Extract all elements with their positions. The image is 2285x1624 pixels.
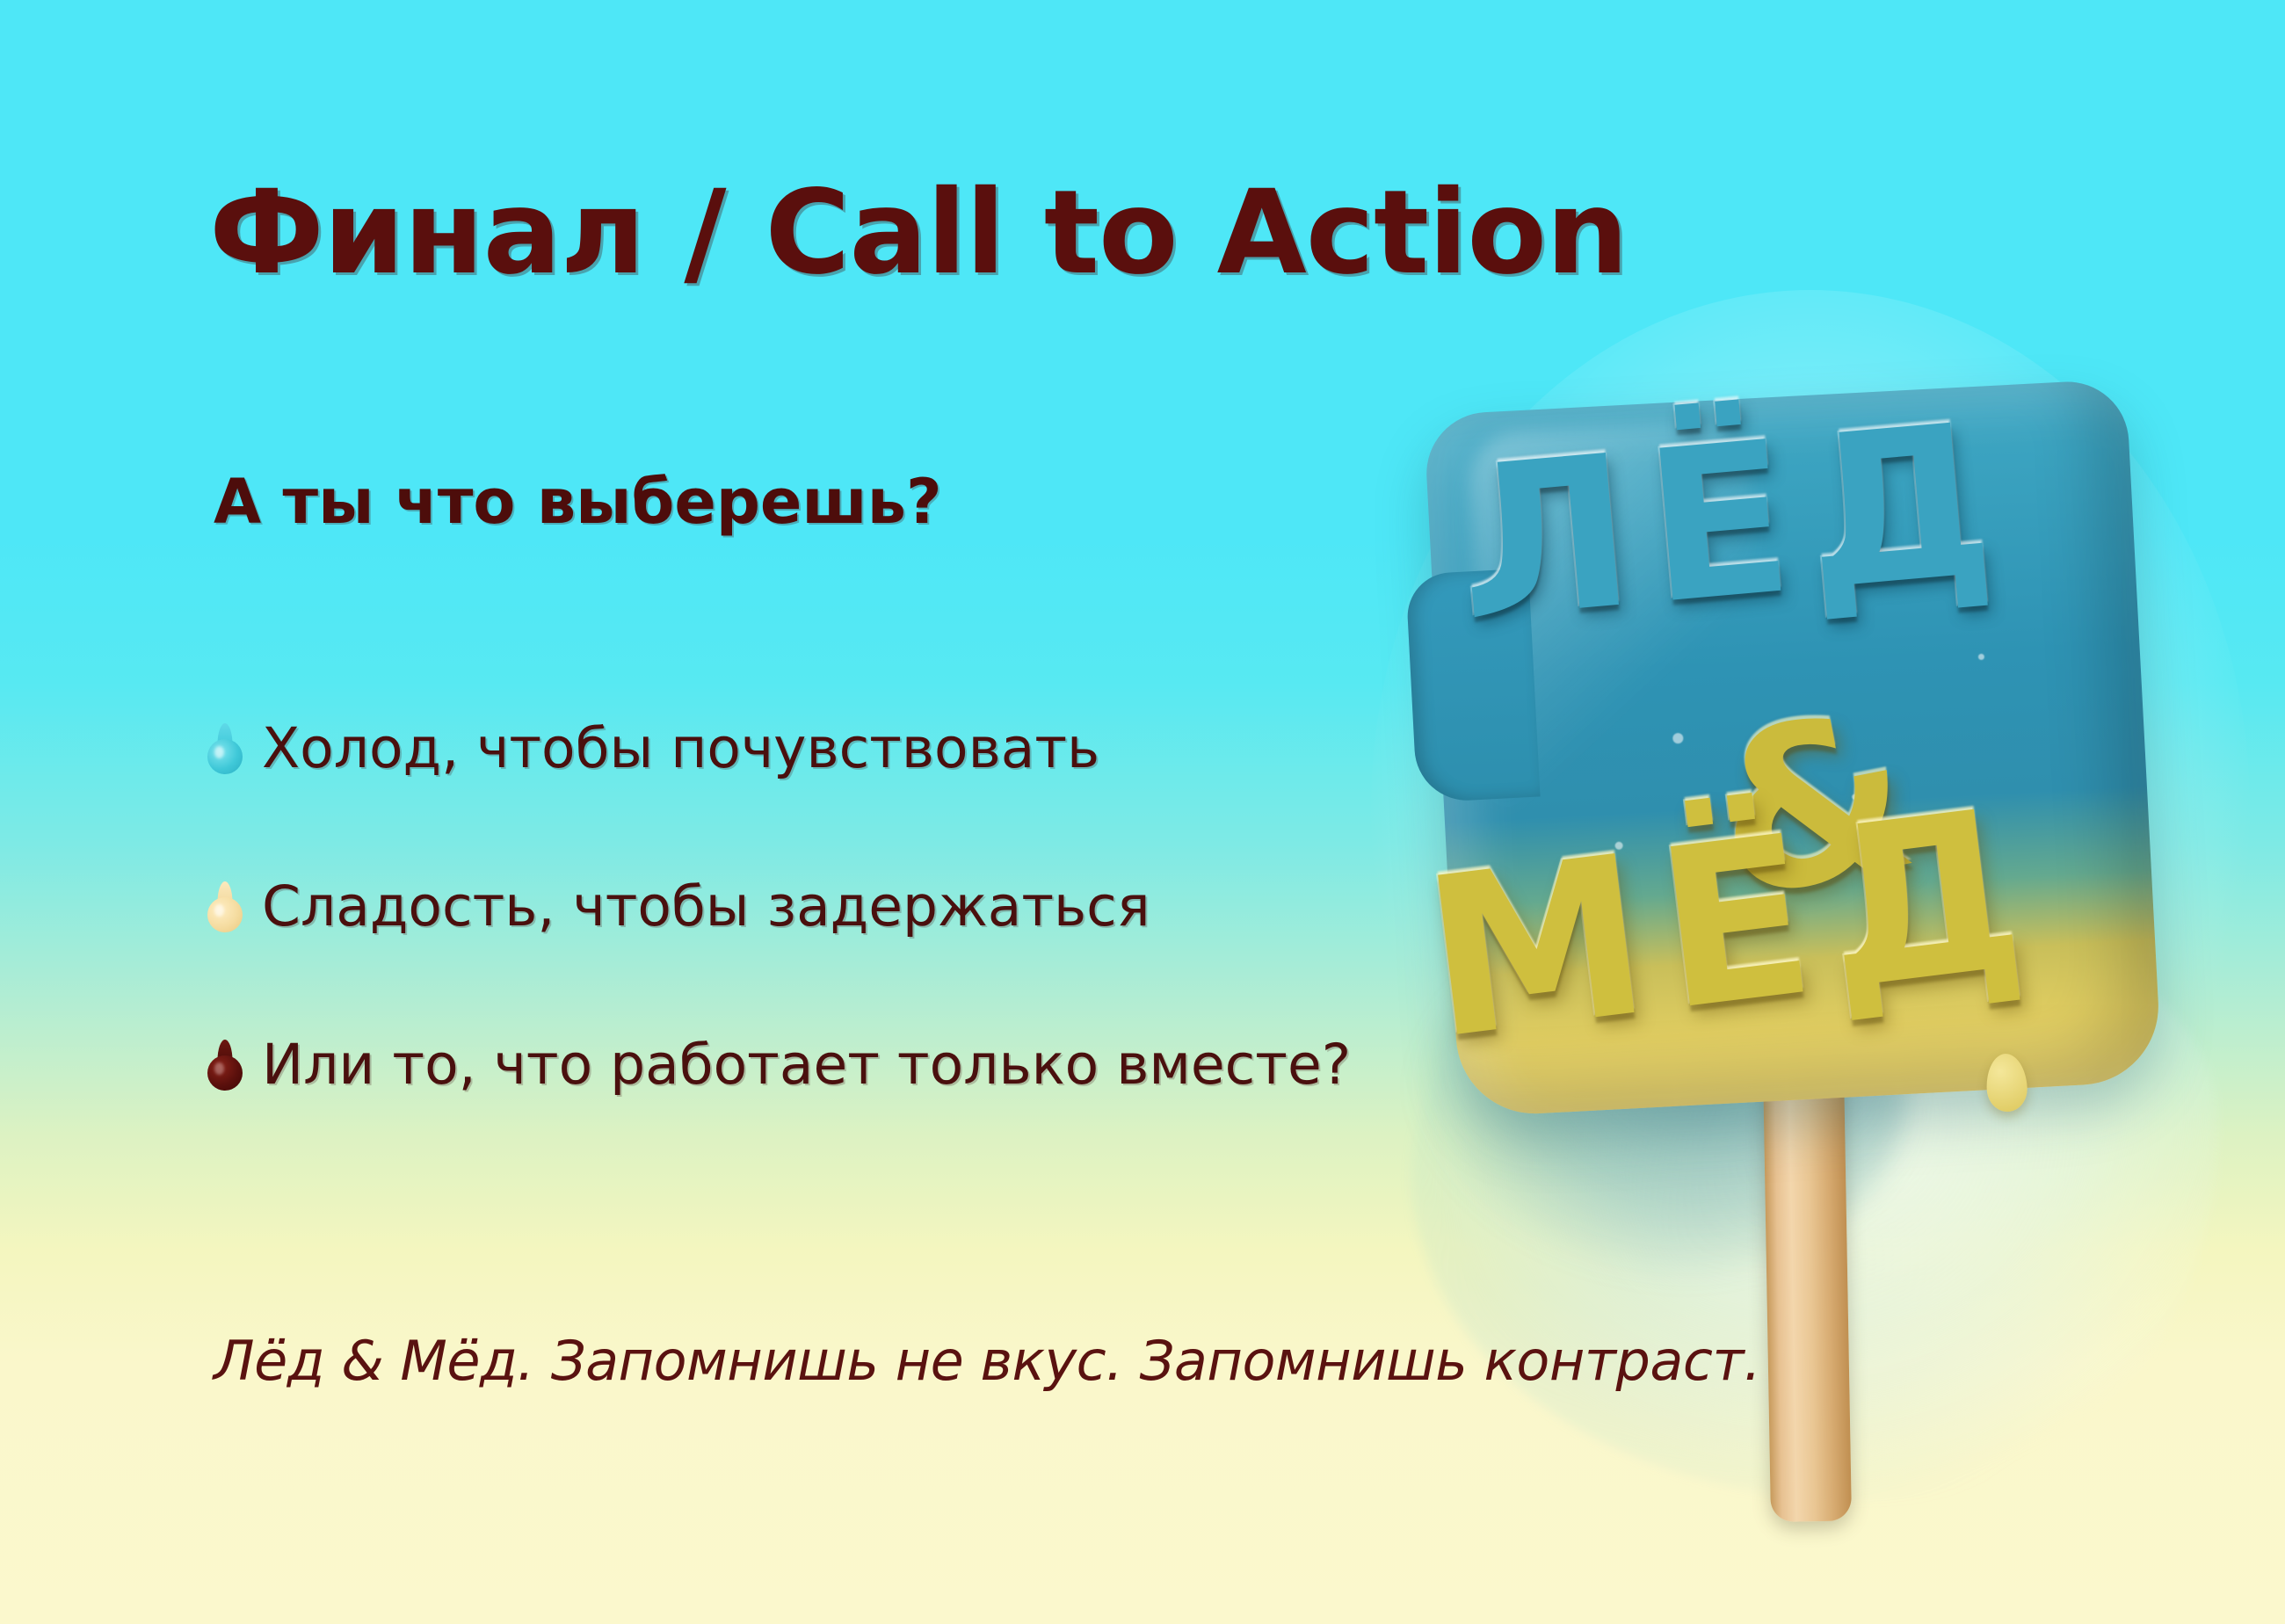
list-item-label: Или то, что работает только вместе? xyxy=(262,1033,1351,1097)
med-letter-1: М xyxy=(1411,825,1662,1070)
cyan-droplet-icon xyxy=(207,723,243,774)
page-title: Финал / Call to Action xyxy=(209,172,1628,294)
med-letter-2: Ё xyxy=(1644,805,1827,1042)
med-letter-3: Д xyxy=(1809,779,2036,1022)
list-item: Или то, что работает только вместе? xyxy=(207,1011,1341,1118)
list-item-label: Холод, чтобы почувствовать xyxy=(262,716,1099,780)
subheading: А ты что выберешь? xyxy=(214,466,942,538)
led-letter-3: Д xyxy=(1793,396,2004,621)
honey-droplet-icon xyxy=(207,881,243,932)
led-letter-1: Л xyxy=(1446,427,1644,651)
slide-canvas: Л Ё Д & М Ё Д Финал / Call to Action А т… xyxy=(0,0,2285,1624)
list-item-label: Сладость, чтобы задержаться xyxy=(262,874,1150,939)
led-letter-2: Ё xyxy=(1635,414,1803,635)
list-item: Сладость, чтобы задержаться xyxy=(207,852,1341,960)
dark-droplet-icon xyxy=(207,1040,243,1091)
list-item: Холод, чтобы почувствовать xyxy=(207,694,1341,801)
footer-tagline: Лёд & Мёд. Запомнишь не вкус. Запомнишь … xyxy=(214,1329,1760,1393)
product-word-led: Л Ё Д xyxy=(1446,396,2004,652)
bullet-list: Холод, чтобы почувствовать Сладость, что… xyxy=(207,694,1341,1169)
